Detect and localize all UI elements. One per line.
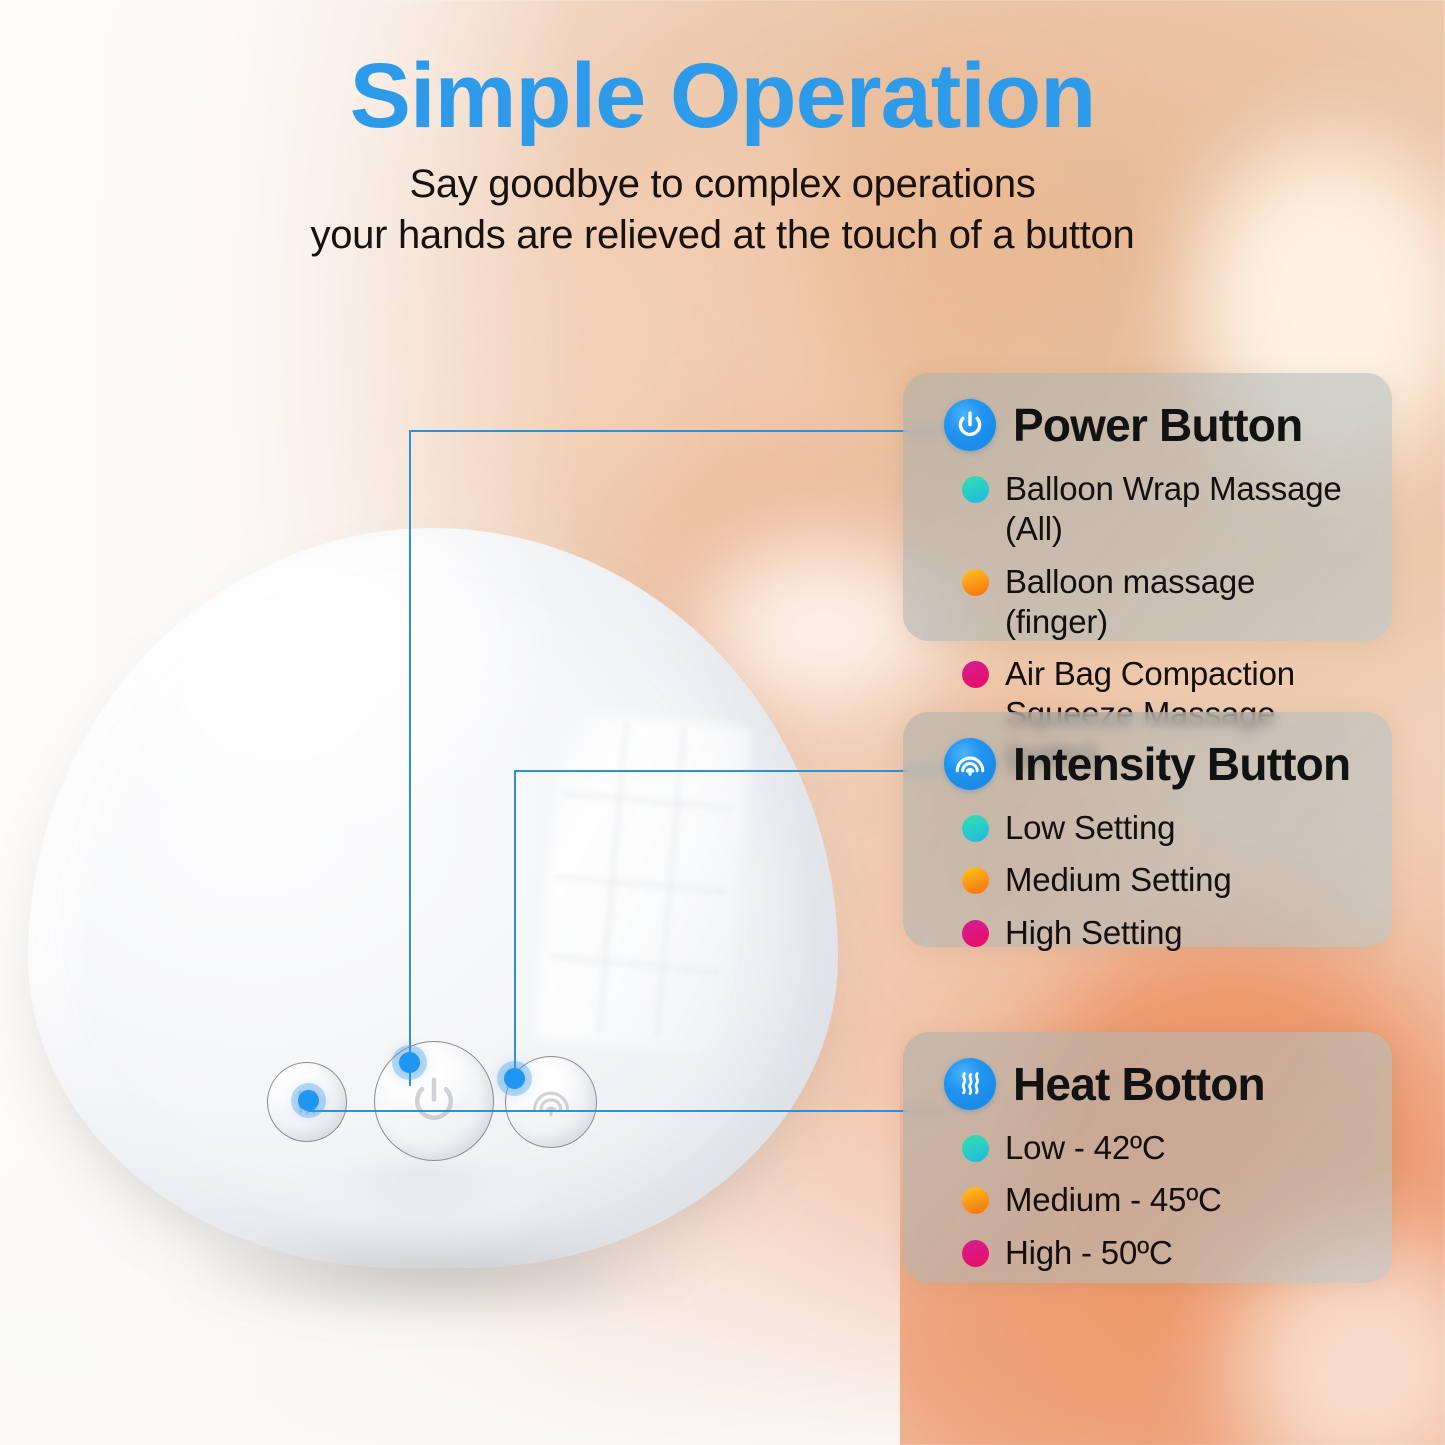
bullet-dot-medium bbox=[962, 569, 989, 596]
intensity-waves-icon bbox=[944, 738, 996, 790]
device-illustration bbox=[28, 528, 838, 1288]
info-card-heat: Heat Botton Low - 42ºC Medium - 45ºC Hig… bbox=[903, 1032, 1392, 1283]
bullet-label: Medium - 45ºC bbox=[1005, 1180, 1222, 1220]
list-item: Low Setting bbox=[962, 808, 1366, 848]
bullet-label: Balloon Wrap Massage (All) bbox=[1005, 469, 1366, 550]
bullet-dot-low bbox=[962, 815, 989, 842]
bullet-dot-low bbox=[962, 476, 989, 503]
bullet-label: Balloon massage (finger) bbox=[1005, 562, 1366, 643]
page-subtitle: Say goodbye to complex operations your h… bbox=[0, 145, 1445, 261]
list-item: Medium Setting bbox=[962, 860, 1366, 900]
intensity-waves-icon bbox=[529, 1080, 573, 1124]
card-header: Intensity Button bbox=[903, 712, 1392, 790]
bullet-dot-high bbox=[962, 1240, 989, 1267]
device-ground-shadow bbox=[86, 1216, 786, 1334]
bullet-label: High - 50ºC bbox=[1005, 1233, 1173, 1273]
list-item: Low - 42ºC bbox=[962, 1128, 1366, 1168]
device-highlight bbox=[148, 588, 478, 838]
power-icon bbox=[944, 399, 996, 451]
device-window-grid-reflection bbox=[543, 717, 742, 1043]
card-bullet-list: Low Setting Medium Setting High Setting bbox=[903, 790, 1392, 953]
card-bullet-list: Low - 42ºC Medium - 45ºC High - 50ºC bbox=[903, 1110, 1392, 1273]
info-card-intensity: Intensity Button Low Setting Medium Sett… bbox=[903, 712, 1392, 947]
list-item: High Setting bbox=[962, 913, 1366, 953]
connector-node-heat-device bbox=[298, 1090, 319, 1111]
bullet-label: High Setting bbox=[1005, 913, 1182, 953]
list-item: High - 50ºC bbox=[962, 1233, 1366, 1273]
list-item: Medium - 45ºC bbox=[962, 1180, 1366, 1220]
power-icon bbox=[406, 1073, 462, 1129]
subtitle-line-2: your hands are relieved at the touch of … bbox=[311, 213, 1135, 257]
bullet-label: Low - 42ºC bbox=[1005, 1128, 1165, 1168]
info-card-power: Power Button Balloon Wrap Massage (All) … bbox=[903, 373, 1392, 641]
page-title: Simple Operation bbox=[0, 0, 1445, 145]
bullet-dot-high bbox=[962, 661, 989, 688]
device-power-button[interactable] bbox=[374, 1041, 494, 1161]
card-header: Heat Botton bbox=[903, 1032, 1392, 1110]
connector-line-power-vertical bbox=[409, 430, 411, 1086]
connector-node-power-device bbox=[399, 1052, 420, 1073]
connector-line-heat-horizontal bbox=[308, 1110, 946, 1112]
bullet-label: Medium Setting bbox=[1005, 860, 1231, 900]
bullet-dot-medium bbox=[962, 1187, 989, 1214]
bullet-dot-high bbox=[962, 920, 989, 947]
list-item: Balloon Wrap Massage (All) bbox=[962, 469, 1366, 550]
heat-waves-icon bbox=[944, 1058, 996, 1110]
bullet-label: Low Setting bbox=[1005, 808, 1175, 848]
header: Simple Operation Say goodbye to complex … bbox=[0, 0, 1445, 261]
infographic-stage: Simple Operation Say goodbye to complex … bbox=[0, 0, 1445, 1445]
connector-line-intensity-vertical bbox=[514, 770, 516, 1086]
connector-line-power-horizontal bbox=[409, 430, 946, 432]
card-title: Power Button bbox=[1013, 402, 1302, 448]
card-header: Power Button bbox=[903, 373, 1392, 451]
connector-line-intensity-horizontal bbox=[514, 770, 946, 772]
card-title: Intensity Button bbox=[1013, 741, 1350, 787]
connector-node-intensity-device bbox=[504, 1068, 525, 1089]
bullet-dot-low bbox=[962, 1135, 989, 1162]
subtitle-line-1: Say goodbye to complex operations bbox=[409, 162, 1035, 206]
list-item: Balloon massage (finger) bbox=[962, 562, 1366, 643]
bullet-dot-medium bbox=[962, 867, 989, 894]
card-title: Heat Botton bbox=[1013, 1061, 1265, 1107]
